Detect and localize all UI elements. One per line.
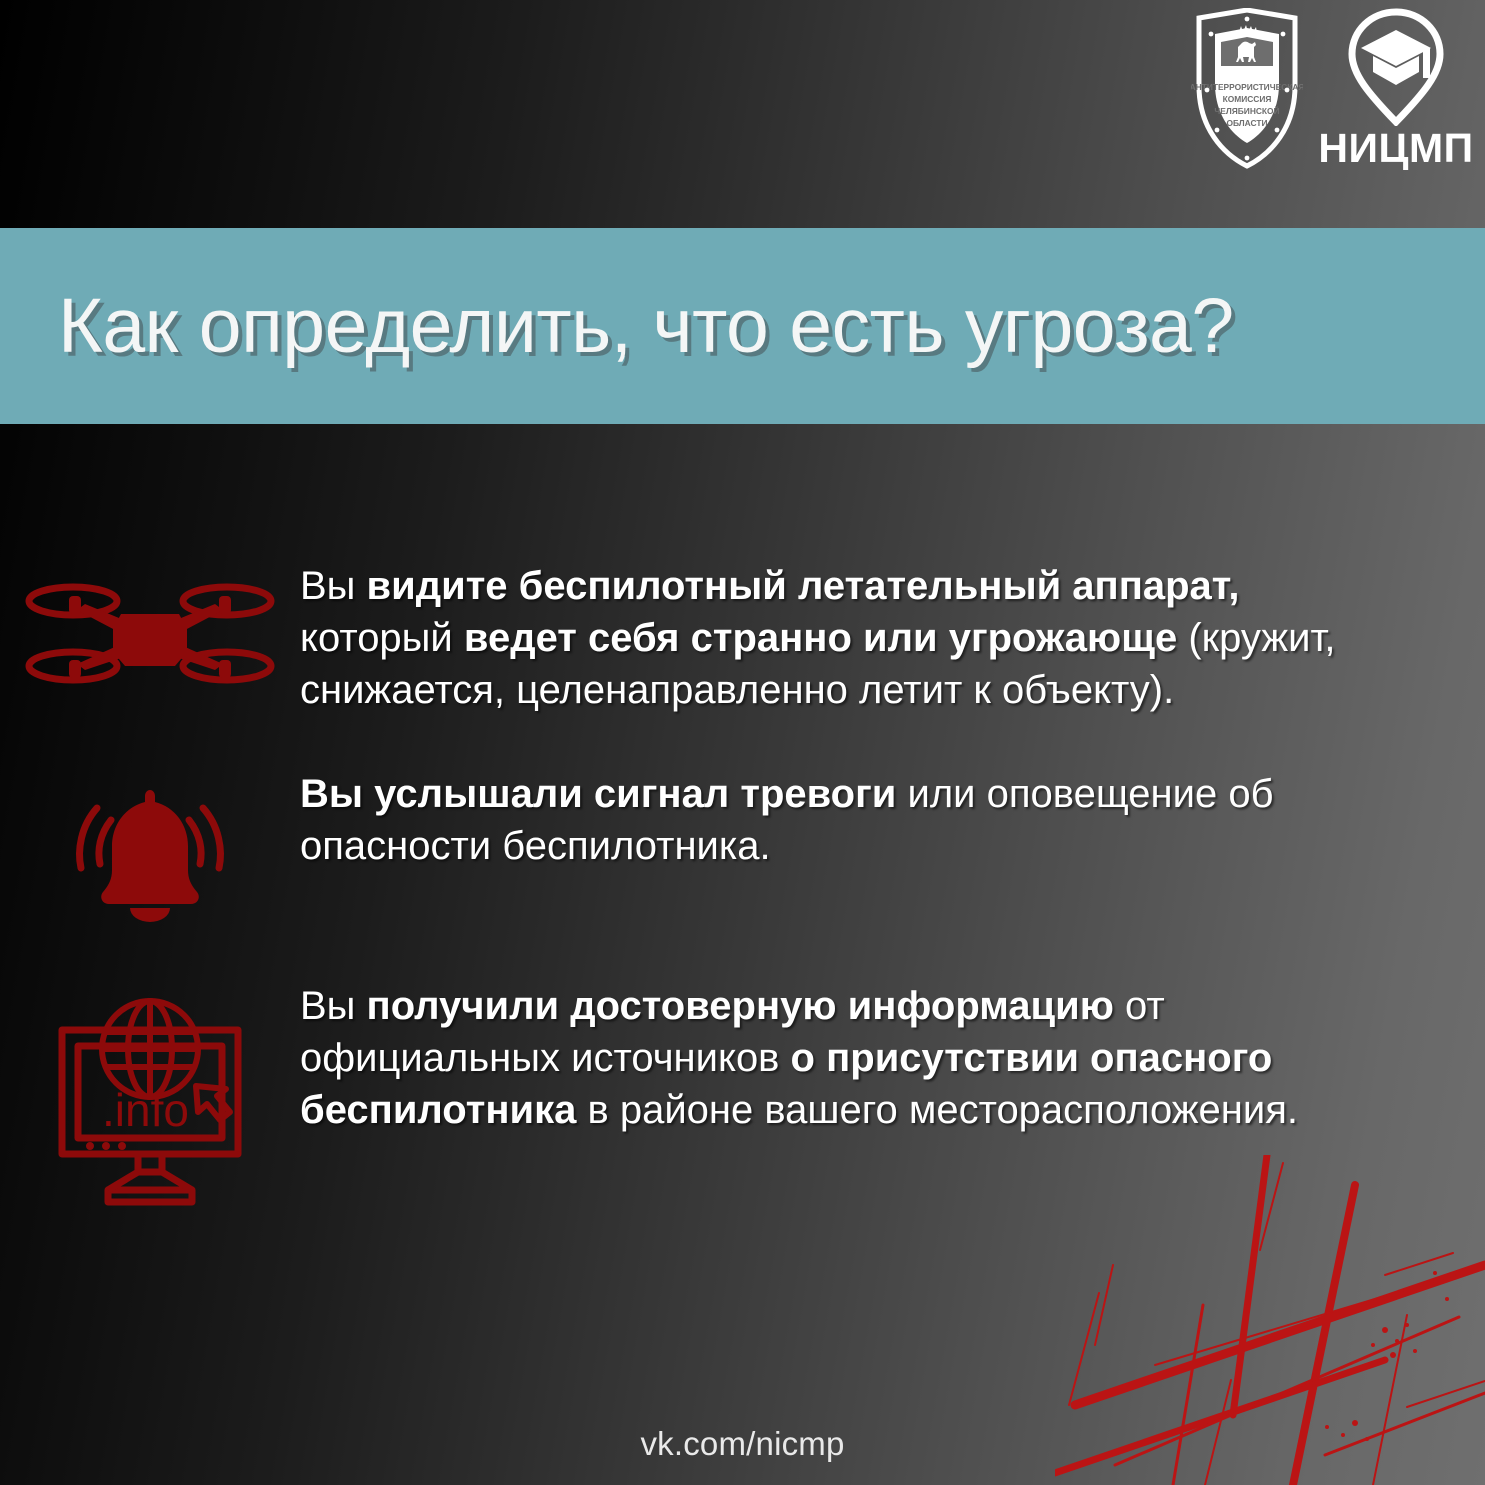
item-icon-slot: .info [0, 980, 300, 1209]
antiterror-commission-shield-logo: АНТИТЕРРОРИСТИЧЕСКАЯ КОМИССИЯ ЧЕЛЯБИНСКО… [1191, 8, 1303, 170]
list-item: .info Вы получили достоверную информацию… [0, 980, 1485, 1209]
spacer [0, 922, 1485, 980]
list-item-text: Вы видите беспилотный летательный аппара… [300, 560, 1360, 716]
text-part-bold: получили достоверную информацию [367, 984, 1114, 1028]
list-item: Вы услышали сигнал тревоги или оповещени… [0, 768, 1485, 922]
header-logo-bar: АНТИТЕРРОРИСТИЧЕСКАЯ КОМИССИЯ ЧЕЛЯБИНСКО… [1191, 0, 1485, 228]
text-part: Вы [300, 984, 367, 1028]
title-band: Как определить, что есть угроза? [0, 228, 1485, 424]
info-monitor-icon: .info [50, 994, 250, 1209]
item-icon-slot [0, 768, 300, 922]
list-item: Вы видите беспилотный летательный аппара… [0, 560, 1485, 716]
text-part-bold: видите беспилотный летательный аппарат, [367, 564, 1240, 608]
list-item-text: Вы услышали сигнал тревоги или оповещени… [300, 768, 1360, 872]
alarm-bell-icon [55, 782, 245, 922]
page-title: Как определить, что есть угроза? [58, 282, 1234, 371]
drone-icon [25, 574, 275, 694]
info-label: .info [102, 1084, 189, 1136]
item-icon-slot [0, 560, 300, 694]
graduation-cap-map-pin-icon [1343, 8, 1449, 126]
shield-line-2: КОМИССИЯ [1223, 94, 1272, 104]
nicmp-logo: НИЦМП [1321, 8, 1471, 178]
shield-line-3: ЧЕЛЯБИНСКОЙ [1214, 105, 1279, 116]
text-part-bold: ведет себя странно или угрожающе [464, 616, 1177, 660]
footer-link[interactable]: vk.com/nicmp [0, 1425, 1485, 1463]
nicmp-wordmark: НИЦМП [1318, 128, 1473, 169]
threat-indicator-list: Вы видите беспилотный летательный аппара… [0, 560, 1485, 1209]
shield-line-4: ОБЛАСТИ [1226, 118, 1267, 128]
spacer [0, 716, 1485, 768]
text-part-bold: Вы услышали сигнал тревоги [300, 772, 896, 816]
text-part: в районе вашего месторасположения. [576, 1088, 1298, 1132]
text-part: который [300, 616, 464, 660]
infographic-poster: АНТИТЕРРОРИСТИЧЕСКАЯ КОМИССИЯ ЧЕЛЯБИНСКО… [0, 0, 1485, 1485]
list-item-text: Вы получили достоверную информацию от оф… [300, 980, 1360, 1136]
text-part: Вы [300, 564, 367, 608]
